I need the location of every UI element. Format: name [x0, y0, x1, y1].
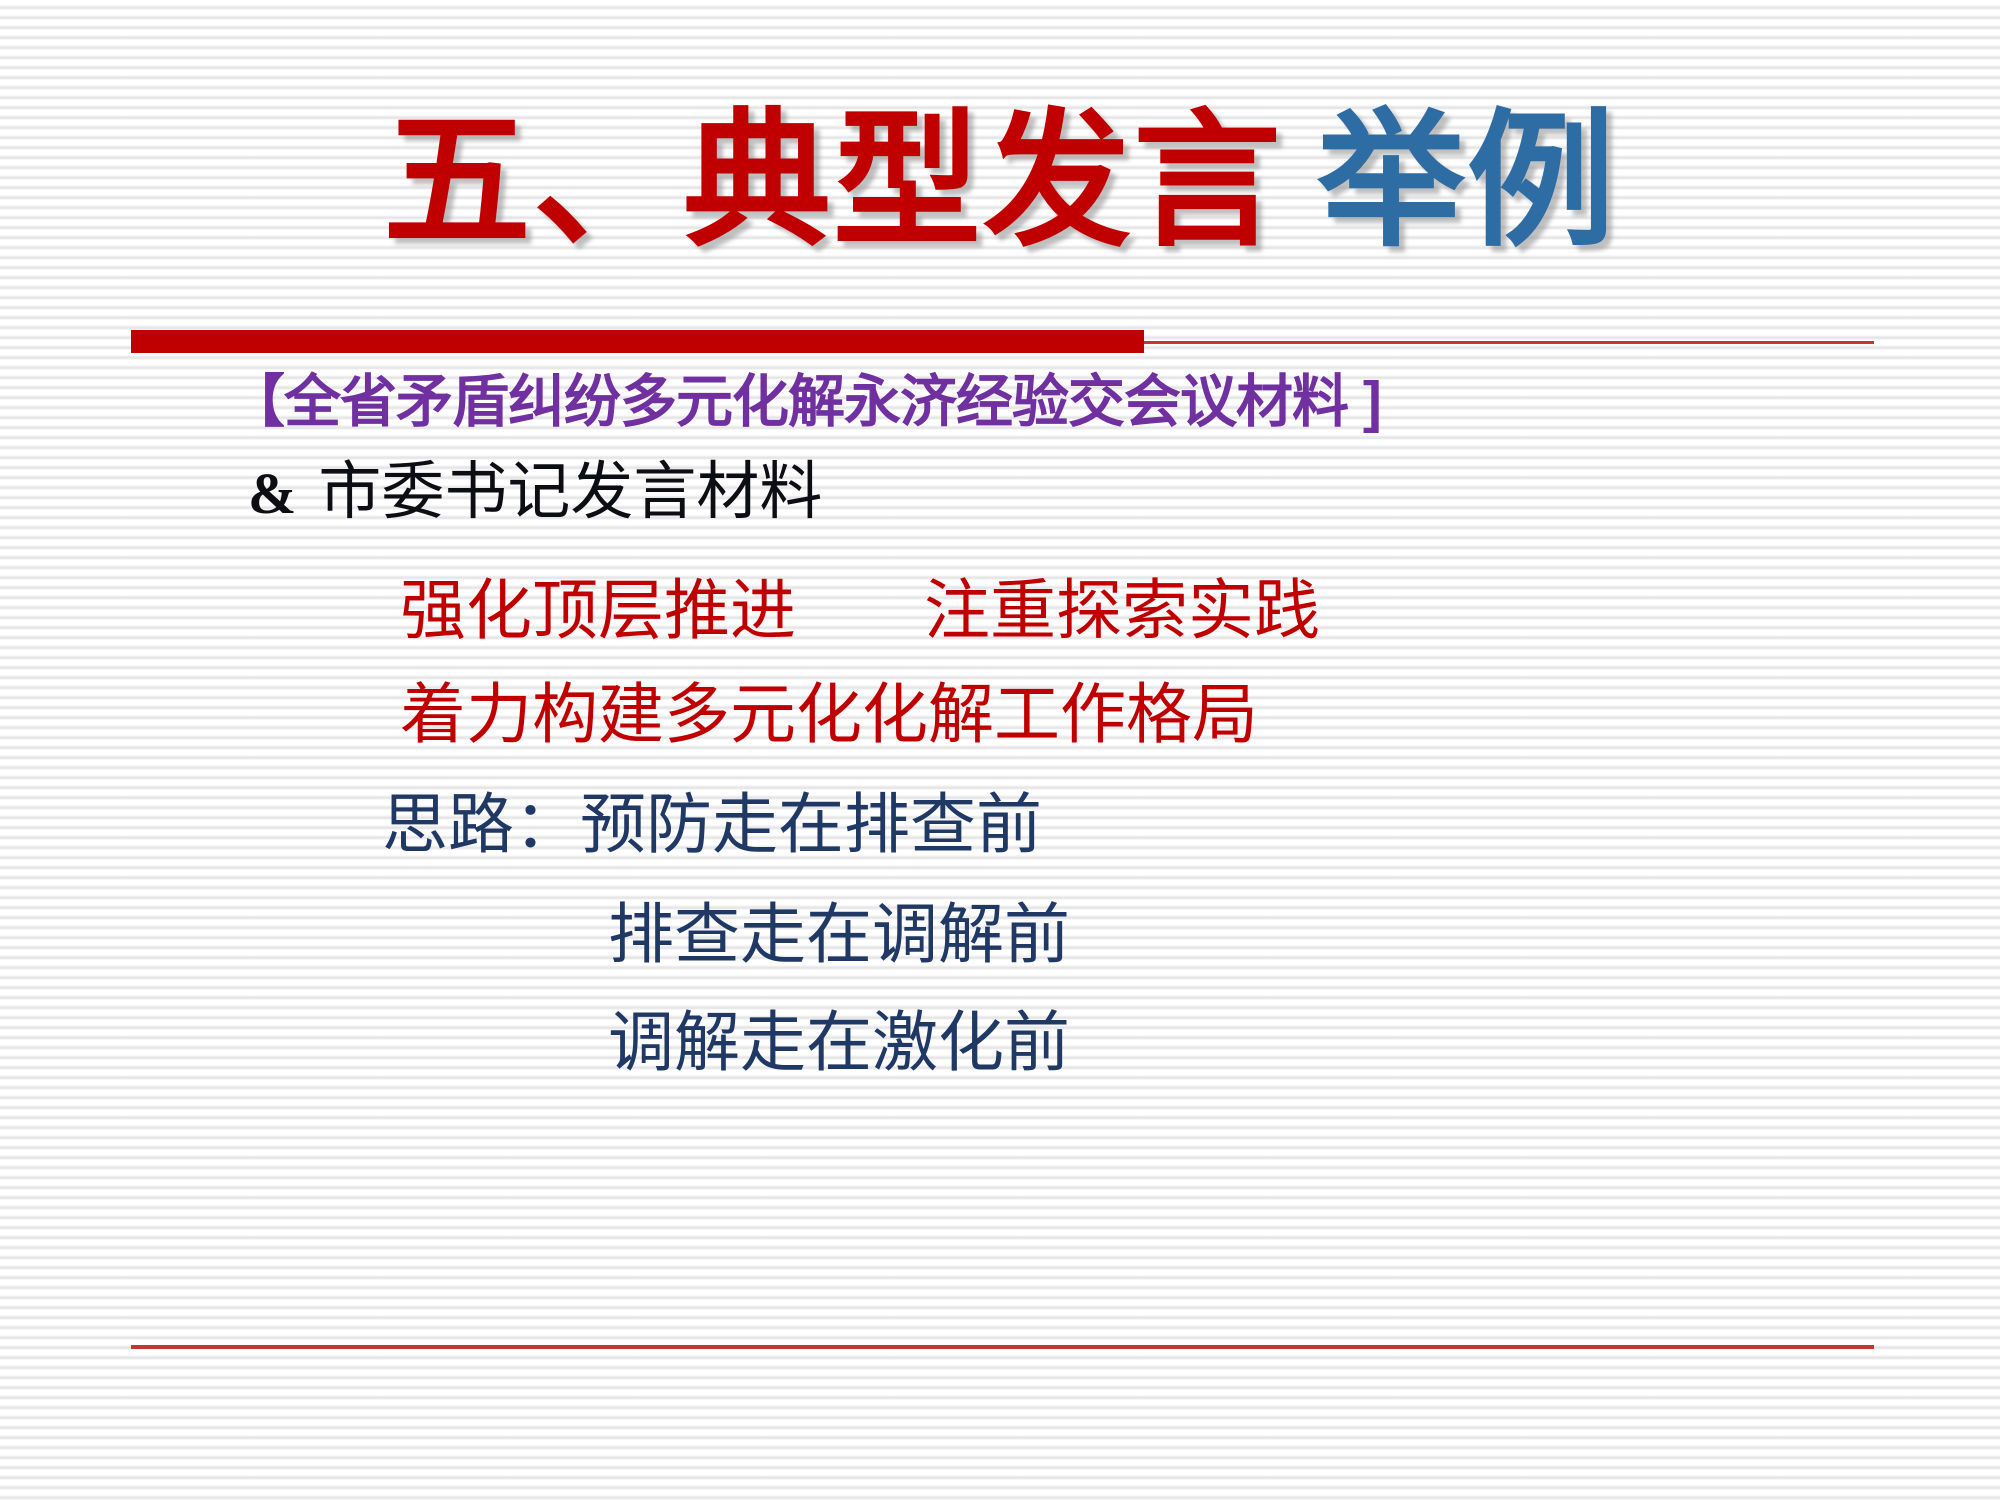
body-phrase-emphasize-exploration: 注重探索实践: [924, 575, 1320, 648]
body-line-red-2: 着力构建多元化化解工作格局: [400, 680, 1258, 751]
body-line-blue-1: 思路：预防走在排查前: [382, 790, 1042, 861]
page-title-red-part: 五、典型发言: [383, 99, 1283, 264]
title-divider-thick-bar: [131, 330, 1144, 353]
page-title: 五、典型发言举例: [0, 108, 2000, 256]
ampersand-bullet-icon: &: [248, 461, 296, 526]
body-line-blue-3: 调解走在激化前: [608, 1008, 1070, 1079]
page-title-blue-part: 举例: [1317, 99, 1617, 264]
body-phrase-strengthen-top-level: 强化顶层推进: [400, 575, 796, 648]
body-line-blue-2: 排查走在调解前: [608, 900, 1070, 971]
bullet-heading-label: 市委书记发言材料: [318, 457, 822, 527]
slide-canvas: 五、典型发言举例 【全省矛盾纠纷多元化解永济经验交会议材料 ] &市委书记发言材…: [0, 0, 2000, 1500]
body-line-red-1: 强化顶层推进注重探索实践: [400, 576, 1320, 647]
subtitle-bracketed-source: 【全省矛盾纠纷多元化解永济经验交会议材料 ]: [228, 372, 1381, 432]
bullet-heading: &市委书记发言材料: [248, 458, 822, 526]
footer-rule: [131, 1345, 1874, 1349]
